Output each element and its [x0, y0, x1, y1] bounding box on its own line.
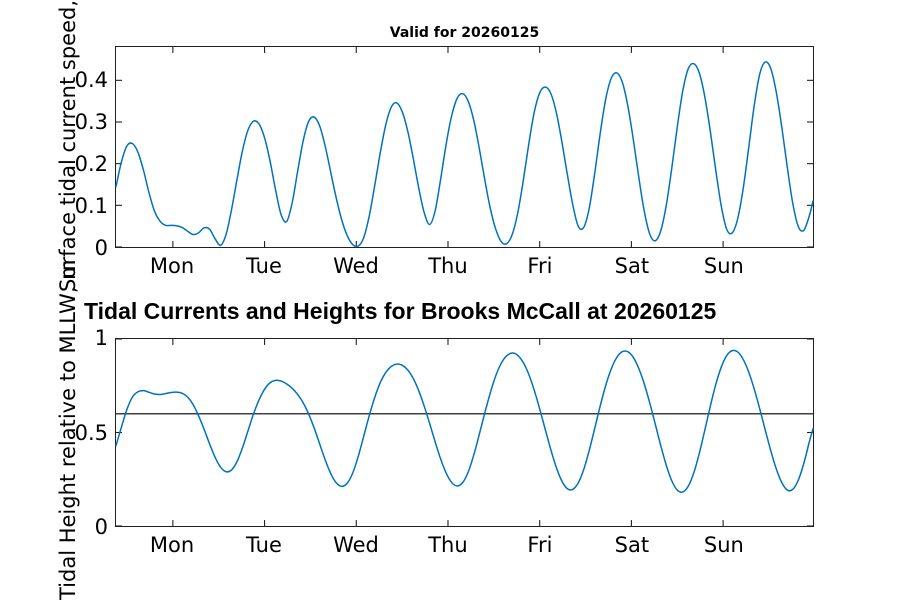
- x-tick-label: Sun: [704, 254, 744, 278]
- top-plot-ytick-labels: 00.10.20.30.4: [48, 46, 108, 248]
- x-tick-label: Sun: [704, 533, 744, 557]
- y-tick-label: 0.2: [75, 152, 108, 176]
- data-line: [116, 62, 813, 247]
- x-tick-label: Sat: [615, 533, 649, 557]
- x-tick-label: Thu: [428, 533, 467, 557]
- x-tick-label: Sat: [615, 254, 649, 278]
- x-tick-label: Wed: [333, 533, 379, 557]
- top-plot-canvas: [116, 47, 813, 247]
- y-tick-label: 0: [95, 515, 108, 539]
- top-plot-xtick-labels: MonTueWedThuFriSatSun: [115, 254, 814, 282]
- figure-main-title: Tidal Currents and Heights for Brooks Mc…: [84, 298, 844, 325]
- x-tick-label: Tue: [246, 533, 282, 557]
- bottom-plot-canvas: [116, 339, 813, 526]
- y-tick-label: 1: [95, 326, 108, 350]
- bottom-plot-ytick-labels: 00.51: [48, 338, 108, 527]
- top-plot-title: Valid for 20260125: [115, 25, 814, 41]
- y-tick-label: 0.5: [75, 421, 108, 445]
- top-plot-axes: [115, 46, 814, 248]
- y-tick-label: 0: [95, 236, 108, 260]
- data-line: [116, 350, 813, 492]
- x-tick-label: Fri: [527, 533, 552, 557]
- tidal-figure: Valid for 20260125 Surface tidal current…: [0, 0, 900, 600]
- x-tick-label: Thu: [428, 254, 467, 278]
- x-tick-label: Wed: [333, 254, 379, 278]
- x-tick-label: Mon: [150, 533, 194, 557]
- y-tick-label: 0.3: [75, 110, 108, 134]
- x-tick-label: Mon: [150, 254, 194, 278]
- bottom-plot-xtick-labels: MonTueWedThuFriSatSun: [115, 533, 814, 561]
- x-tick-label: Tue: [246, 254, 282, 278]
- y-tick-label: 0.4: [75, 68, 108, 92]
- y-tick-label: 0.1: [75, 194, 108, 218]
- bottom-plot-axes: [115, 338, 814, 527]
- x-tick-label: Fri: [527, 254, 552, 278]
